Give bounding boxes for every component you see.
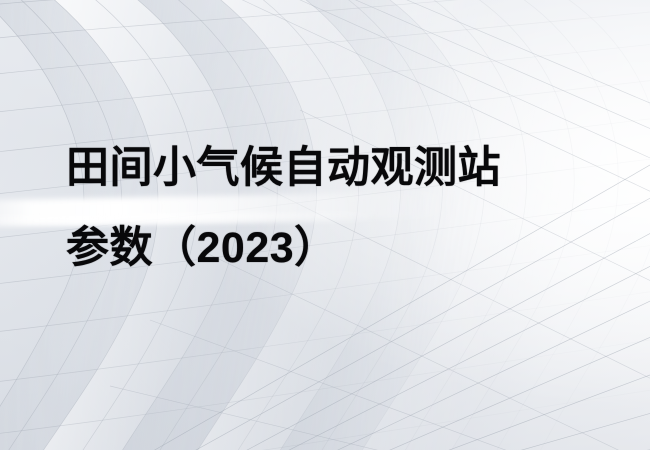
- title-line-1: 田间小气候自动观测站: [66, 128, 606, 208]
- title-line-2: 参数（2023）: [66, 208, 606, 288]
- page-title: 田间小气候自动观测站 参数（2023）: [66, 128, 606, 288]
- title-banner: 田间小气候自动观测站 参数（2023）: [0, 0, 650, 450]
